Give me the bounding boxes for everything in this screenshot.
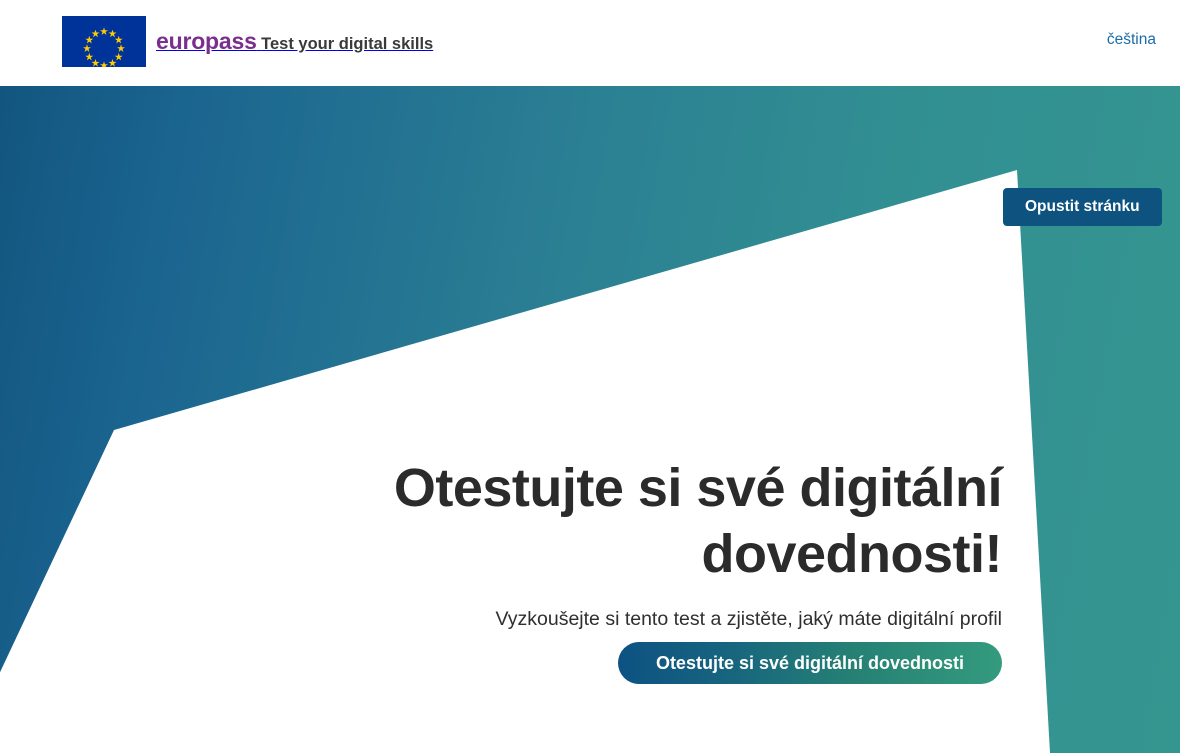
eu-flag-icon — [62, 16, 146, 67]
language-selector-link[interactable]: čeština — [1107, 31, 1156, 49]
hero-section: Opustit stránku Otestujte si své digitál… — [0, 86, 1180, 753]
leave-page-button[interactable]: Opustit stránku — [1003, 188, 1162, 226]
hero-subtitle: Vyzkoušejte si tento test a zjistěte, ja… — [280, 606, 1002, 633]
brand-logo-link[interactable]: europass Test your digital skills — [62, 16, 433, 67]
brand-text: europass Test your digital skills — [156, 28, 433, 55]
hero-content: Otestujte si své digitální dovednosti! V… — [0, 86, 1180, 753]
site-header: europass Test your digital skills češtin… — [0, 0, 1180, 86]
page-root: europass Test your digital skills češtin… — [0, 0, 1180, 753]
brand-title: europass — [156, 28, 257, 54]
cta-container: Otestujte si své digitální dovednosti — [280, 642, 1002, 684]
brand-subtitle: Test your digital skills — [261, 35, 433, 53]
start-test-button[interactable]: Otestujte si své digitální dovednosti — [618, 642, 1002, 684]
hero-title: Otestujte si své digitální dovednosti! — [280, 456, 1002, 588]
